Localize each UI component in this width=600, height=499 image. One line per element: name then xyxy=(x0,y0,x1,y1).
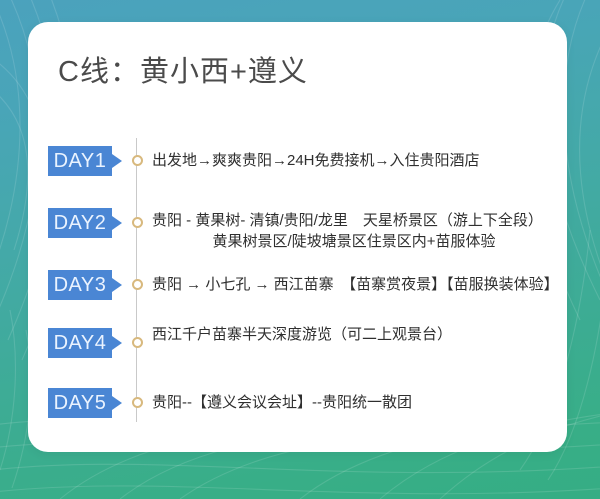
day-description: 西江千户苗寨半天深度游览（可二上观景台） xyxy=(152,324,452,345)
day-badge[interactable]: DAY1 xyxy=(48,146,112,176)
badge-arrow-icon xyxy=(112,396,122,410)
poster-root: C线：黄小西+遵义 DAY1 出发地→爽爽贵阳→24H免费接机→入住贵阳酒店 D… xyxy=(0,0,600,499)
day-description: 贵阳 → 小七孔 → 西江苗寨 【苗寨赏夜景】【苗服换装体验】 xyxy=(152,274,559,295)
badge-arrow-icon xyxy=(112,336,122,350)
badge-arrow-icon xyxy=(112,278,122,292)
timeline-node-marker xyxy=(132,217,143,228)
day-description: 贵阳 - 黄果树- 清镇/贵阳/龙里 天星桥景区（游上下全段） 黄果树景区/陡坡… xyxy=(152,210,556,252)
day-description-line-1: 贵阳 - 黄果树- 清镇/贵阳/龙里 天星桥景区（游上下全段） xyxy=(152,212,543,229)
badge-arrow-icon xyxy=(112,154,122,168)
timeline-node-marker xyxy=(132,155,143,166)
day-badge[interactable]: DAY3 xyxy=(48,270,112,300)
timeline-node-marker xyxy=(132,279,143,290)
content-card: C线：黄小西+遵义 DAY1 出发地→爽爽贵阳→24H免费接机→入住贵阳酒店 D… xyxy=(28,22,567,452)
badge-arrow-icon xyxy=(112,216,122,230)
day-badge[interactable]: DAY2 xyxy=(48,208,112,238)
day-description: 贵阳--【遵义会议会址】--贵阳统一散团 xyxy=(152,392,412,413)
page-title: C线：黄小西+遵义 xyxy=(58,54,308,90)
timeline-node-marker xyxy=(132,397,143,408)
timeline-node-marker xyxy=(132,337,143,348)
day-badge[interactable]: DAY4 xyxy=(48,328,112,358)
day-badge[interactable]: DAY5 xyxy=(48,388,112,418)
day-description: 出发地→爽爽贵阳→24H免费接机→入住贵阳酒店 xyxy=(152,150,480,171)
day-description-line-2: 黄果树景区/陡坡塘景区住景区内+苗服体验 xyxy=(152,231,556,252)
